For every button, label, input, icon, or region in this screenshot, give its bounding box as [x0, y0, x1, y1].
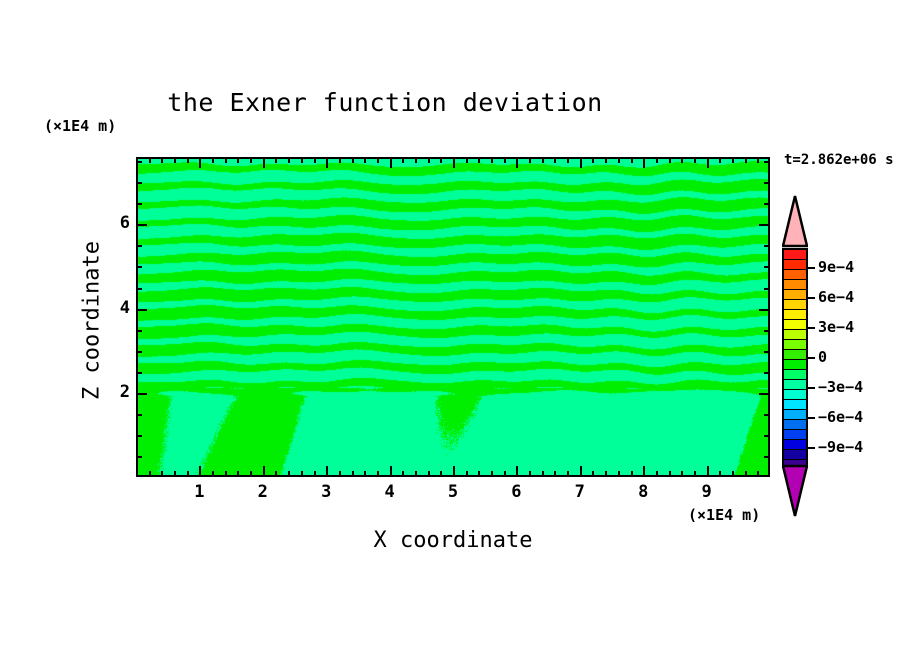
x-tick-top [707, 157, 709, 168]
x-tick-top [631, 157, 633, 163]
x-tick-top [745, 157, 747, 163]
y-tick [136, 393, 147, 395]
x-tick [136, 471, 138, 477]
x-tick-top [174, 157, 176, 163]
x-tick-top [453, 157, 455, 168]
y-tick-right [764, 288, 770, 290]
x-tick [681, 471, 683, 477]
colorbar-tick-label: 3e−4 [818, 318, 854, 336]
y-tick [136, 203, 142, 205]
colorbar-over-cap [782, 194, 808, 248]
contour-field-canvas [138, 159, 768, 475]
colorbar-band [784, 270, 806, 280]
x-tick [428, 471, 430, 477]
x-tick-top [592, 157, 594, 163]
colorbar-bands [782, 248, 808, 468]
x-tick-top [567, 157, 569, 163]
x-tick [440, 471, 442, 477]
y-tick-right [764, 203, 770, 205]
time-annotation: t=2.862e+06 s [784, 152, 894, 168]
y-tick-right [764, 372, 770, 374]
y-tick [136, 245, 142, 247]
colorbar-band [784, 400, 806, 410]
x-tick-top [554, 157, 556, 163]
x-tick-top [288, 157, 290, 163]
x-tick-top [250, 157, 252, 163]
colorbar-tick [808, 297, 815, 299]
y-tick [136, 351, 142, 353]
colorbar-tick [808, 327, 815, 329]
y-tick-label: 2 [100, 382, 130, 402]
x-tick [580, 466, 582, 477]
colorbar-tick-label: 9e−4 [818, 258, 854, 276]
y-tick-right [759, 393, 770, 395]
colorbar-band [784, 450, 806, 460]
x-tick-top [440, 157, 442, 163]
x-tick-label: 3 [311, 482, 341, 502]
x-tick-top [580, 157, 582, 168]
x-tick [352, 471, 354, 477]
x-tick-label: 8 [628, 482, 658, 502]
x-tick-top [732, 157, 734, 163]
colorbar-tick-label: 6e−4 [818, 288, 854, 306]
y-tick [136, 288, 142, 290]
colorbar-band [784, 360, 806, 370]
x-tick [225, 471, 227, 477]
x-tick [326, 466, 328, 477]
colorbar[interactable]: 9e−46e−43e−40−3e−4−6e−4−9e−4 [782, 196, 808, 516]
x-tick-top [605, 157, 607, 163]
colorbar-tick-label: −3e−4 [818, 378, 863, 396]
x-tick-top [390, 157, 392, 168]
y-tick [136, 224, 147, 226]
x-tick [757, 471, 759, 477]
colorbar-tick [808, 417, 815, 419]
x-tick [288, 471, 290, 477]
x-tick-top [719, 157, 721, 163]
x-tick [707, 466, 709, 477]
colorbar-band [784, 310, 806, 320]
x-tick-top [757, 157, 759, 163]
x-tick [719, 471, 721, 477]
y-tick-label: 4 [100, 298, 130, 318]
y-tick-right [764, 161, 770, 163]
x-tick-top [643, 157, 645, 168]
x-tick [631, 471, 633, 477]
x-tick [732, 471, 734, 477]
x-tick [478, 471, 480, 477]
x-tick [491, 471, 493, 477]
colorbar-band [784, 350, 806, 360]
x-tick [339, 471, 341, 477]
y-tick-right [759, 224, 770, 226]
x-tick-label: 7 [565, 482, 595, 502]
y-tick-right [764, 266, 770, 268]
x-tick [149, 471, 151, 477]
x-tick-top [339, 157, 341, 163]
x-tick-top [428, 157, 430, 163]
colorbar-band [784, 290, 806, 300]
x-tick [542, 471, 544, 477]
x-tick-top [681, 157, 683, 163]
x-tick-top [656, 157, 658, 163]
colorbar-band [784, 420, 806, 430]
x-tick [554, 471, 556, 477]
y-tick-label: 6 [100, 213, 130, 233]
colorbar-band [784, 330, 806, 340]
colorbar-band [784, 320, 806, 330]
x-tick [605, 471, 607, 477]
y-tick-right [764, 456, 770, 458]
x-tick [212, 471, 214, 477]
x-tick [187, 471, 189, 477]
colorbar-tick-label: −6e−4 [818, 408, 863, 426]
x-tick-top [466, 157, 468, 163]
x-tick [516, 466, 518, 477]
x-tick-top [516, 157, 518, 168]
colorbar-tick [808, 447, 815, 449]
x-tick-top [402, 157, 404, 163]
x-tick [694, 471, 696, 477]
y-tick [136, 266, 142, 268]
x-tick-top [415, 157, 417, 163]
colorbar-band [784, 260, 806, 270]
x-tick-top [694, 157, 696, 163]
x-tick-label: 5 [438, 482, 468, 502]
x-tick [390, 466, 392, 477]
x-tick-top [263, 157, 265, 168]
y-tick [136, 456, 142, 458]
colorbar-band [784, 410, 806, 420]
y-tick-right [764, 245, 770, 247]
contour-plot-area[interactable] [136, 157, 770, 477]
x-tick-label: 6 [501, 482, 531, 502]
x-tick-top [212, 157, 214, 163]
x-tick [669, 471, 671, 477]
x-tick [567, 471, 569, 477]
y-tick-right [764, 414, 770, 416]
y-tick [136, 161, 142, 163]
x-tick-top [504, 157, 506, 163]
x-tick [529, 471, 531, 477]
x-tick [199, 466, 201, 477]
x-tick-label: 9 [692, 482, 722, 502]
y-tick [136, 435, 142, 437]
x-tick [161, 471, 163, 477]
colorbar-tick [808, 357, 815, 359]
y-axis-title: Z coordinate [80, 161, 105, 481]
colorbar-tick-label: 0 [818, 348, 827, 366]
y-tick-right [759, 309, 770, 311]
x-tick [402, 471, 404, 477]
x-tick [174, 471, 176, 477]
y-tick [136, 372, 142, 374]
x-tick-top [377, 157, 379, 163]
colorbar-tick [808, 267, 815, 269]
y-tick [136, 309, 147, 311]
x-tick [453, 466, 455, 477]
x-tick [592, 471, 594, 477]
y-tick [136, 414, 142, 416]
x-tick [314, 471, 316, 477]
x-tick [237, 471, 239, 477]
x-tick [504, 471, 506, 477]
x-tick [466, 471, 468, 477]
x-tick [250, 471, 252, 477]
x-tick-top [314, 157, 316, 163]
x-tick [618, 471, 620, 477]
x-tick-top [542, 157, 544, 163]
x-tick-top [301, 157, 303, 163]
x-tick-top [669, 157, 671, 163]
colorbar-band [784, 440, 806, 450]
x-tick-top [149, 157, 151, 163]
x-tick [643, 466, 645, 477]
colorbar-band [784, 380, 806, 390]
y-tick-right [764, 182, 770, 184]
x-tick-label: 4 [375, 482, 405, 502]
colorbar-band [784, 370, 806, 380]
colorbar-band [784, 340, 806, 350]
y-tick-right [764, 435, 770, 437]
x-axis-title: X coordinate [136, 528, 770, 553]
x-tick [364, 471, 366, 477]
x-tick-top [491, 157, 493, 163]
x-tick-top [618, 157, 620, 163]
x-tick-label: 2 [248, 482, 278, 502]
x-axis-unit-label: (×1E4 m) [688, 506, 760, 524]
x-tick-top [225, 157, 227, 163]
colorbar-band [784, 390, 806, 400]
x-tick-top [187, 157, 189, 163]
x-tick-top [275, 157, 277, 163]
x-tick [377, 471, 379, 477]
x-tick-top [352, 157, 354, 163]
x-tick-top [199, 157, 201, 168]
colorbar-tick-label: −9e−4 [818, 438, 863, 456]
x-tick-top [161, 157, 163, 163]
y-tick-right [764, 351, 770, 353]
colorbar-band [784, 300, 806, 310]
x-tick [745, 471, 747, 477]
x-tick [275, 471, 277, 477]
y-tick-right [764, 330, 770, 332]
page-title: the Exner function deviation [0, 88, 770, 117]
y-tick [136, 182, 142, 184]
x-tick-top [326, 157, 328, 168]
x-tick [656, 471, 658, 477]
colorbar-tick [808, 387, 815, 389]
colorbar-band [784, 430, 806, 440]
colorbar-under-cap [782, 464, 808, 518]
colorbar-band [784, 250, 806, 260]
x-tick [415, 471, 417, 477]
x-tick-top [364, 157, 366, 163]
x-tick-top [478, 157, 480, 163]
colorbar-band [784, 280, 806, 290]
x-tick-top [237, 157, 239, 163]
y-tick [136, 330, 142, 332]
x-tick [263, 466, 265, 477]
y-axis-unit-label: (×1E4 m) [44, 117, 116, 135]
x-tick [301, 471, 303, 477]
x-tick-label: 1 [184, 482, 214, 502]
x-tick-top [529, 157, 531, 163]
